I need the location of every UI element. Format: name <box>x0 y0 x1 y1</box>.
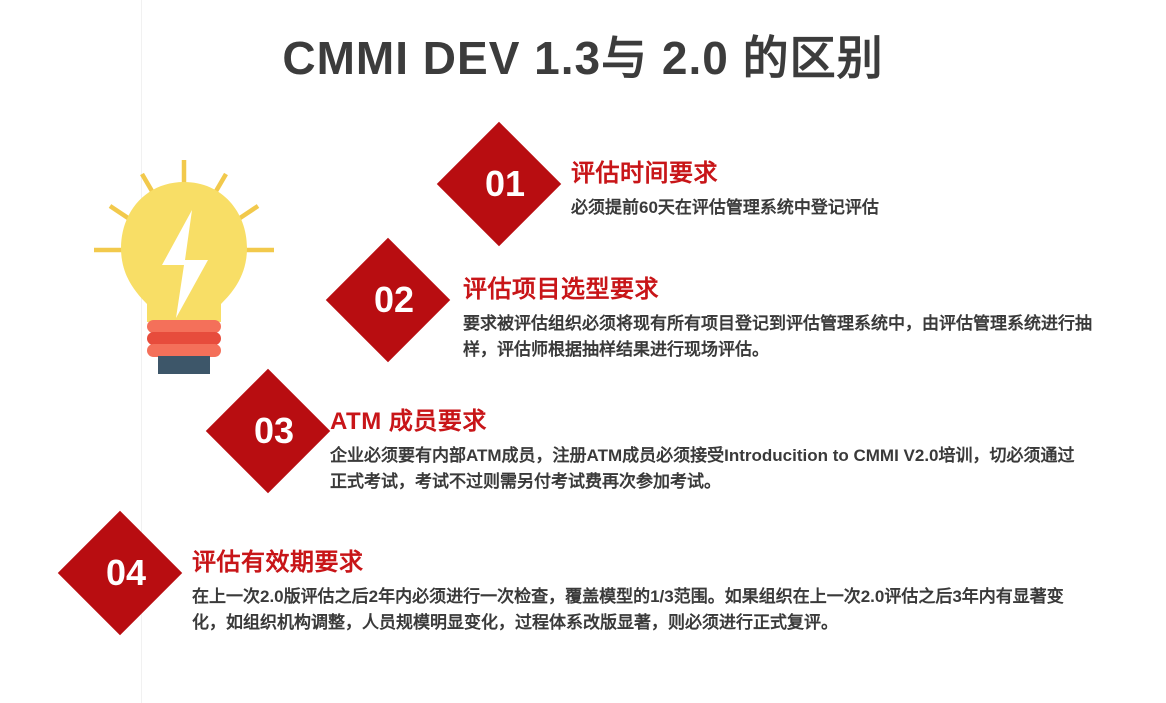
item-heading-02: 评估项目选型要求 <box>463 276 1093 304</box>
diamond-badge-01 <box>437 122 561 246</box>
item-body-03: 企业必须要有内部ATM成员，注册ATM成员必须接受Introducition t… <box>330 443 1090 496</box>
item-body-01: 必须提前60天在评估管理系统中登记评估 <box>571 195 1131 221</box>
item-body-02: 要求被评估组织必须将现有所有项目登记到评估管理系统中，由评估管理系统进行抽样，评… <box>463 311 1093 364</box>
item-body-04: 在上一次2.0版评估之后2年内必须进行一次检查，覆盖模型的1/3范围。如果组织在… <box>192 584 1092 637</box>
item-text-04: 评估有效期要求 在上一次2.0版评估之后2年内必须进行一次检查，覆盖模型的1/3… <box>192 549 1092 636</box>
item-text-01: 评估时间要求 必须提前60天在评估管理系统中登记评估 <box>571 160 1131 221</box>
item-heading-04: 评估有效期要求 <box>192 549 1092 577</box>
item-text-03: ATM 成员要求 企业必须要有内部ATM成员，注册ATM成员必须接受Introd… <box>330 408 1090 495</box>
diamond-badge-02 <box>326 238 450 362</box>
diamond-badge-03 <box>206 369 330 493</box>
item-heading-01: 评估时间要求 <box>571 160 1131 188</box>
lightbulb-icon <box>84 148 284 378</box>
item-heading-03: ATM 成员要求 <box>330 408 1090 436</box>
item-text-02: 评估项目选型要求 要求被评估组织必须将现有所有项目登记到评估管理系统中，由评估管… <box>463 276 1093 363</box>
page-title: CMMI DEV 1.3与 2.0 的区别 <box>0 22 1166 88</box>
diamond-badge-04 <box>58 511 182 635</box>
